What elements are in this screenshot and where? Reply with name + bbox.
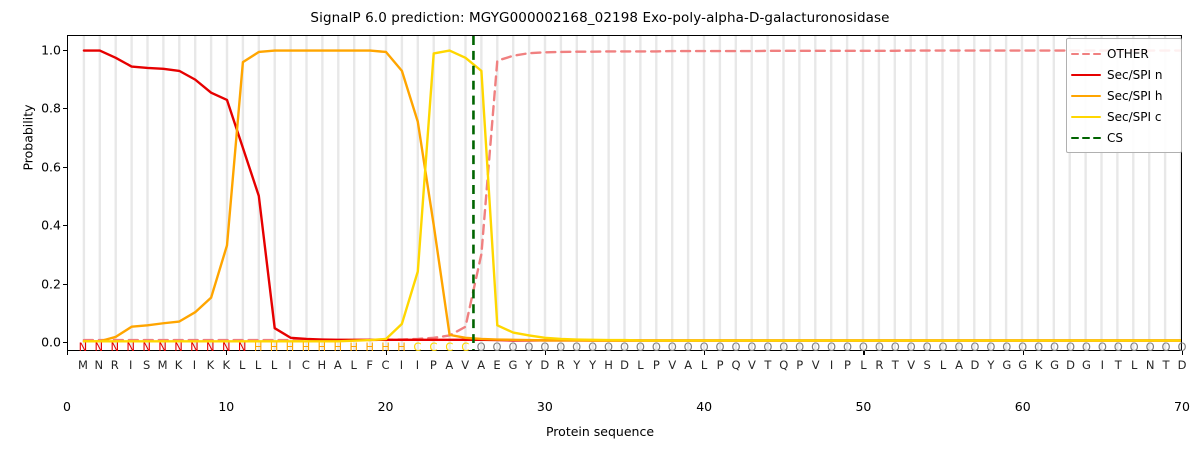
legend-item-sec-spi-n[interactable]: Sec/SPI n: [1071, 64, 1176, 85]
amino-acid-letter: I: [187, 358, 201, 373]
amino-acid-letter: R: [872, 358, 886, 373]
region-label: N: [187, 340, 201, 355]
region-label: C: [442, 340, 456, 355]
amino-acid-letter: Y: [522, 358, 536, 373]
amino-acid-letter: C: [299, 358, 313, 373]
region-label: O: [1159, 340, 1173, 355]
amino-acid-letter: H: [315, 358, 329, 373]
region-label: O: [490, 340, 504, 355]
region-label: H: [363, 340, 377, 355]
legend-swatch-icon: [1071, 90, 1101, 102]
region-label: O: [904, 340, 918, 355]
region-label: N: [140, 340, 154, 355]
amino-acid-letter: A: [442, 358, 456, 373]
amino-acid-letter: T: [761, 358, 775, 373]
amino-acid-letter: V: [904, 358, 918, 373]
region-label: N: [156, 340, 170, 355]
region-label: O: [474, 340, 488, 355]
region-label: H: [283, 340, 297, 355]
region-label: C: [410, 340, 424, 355]
series-line-other: [84, 51, 1181, 341]
region-label: N: [108, 340, 122, 355]
region-label: O: [1064, 340, 1078, 355]
amino-acid-letter: L: [856, 358, 870, 373]
amino-acid-letter: R: [108, 358, 122, 373]
amino-acid-letter: L: [1127, 358, 1141, 373]
region-label: O: [522, 340, 536, 355]
y-tick-label: 1.0: [21, 42, 61, 57]
amino-acid-letter: N: [92, 358, 106, 373]
region-label: O: [968, 340, 982, 355]
region-label: O: [793, 340, 807, 355]
amino-acid-letter: K: [1032, 358, 1046, 373]
x-tick-label: 10: [218, 399, 234, 414]
region-label: H: [315, 340, 329, 355]
amino-acid-letter: D: [538, 358, 552, 373]
amino-acid-letter: A: [952, 358, 966, 373]
region-label: O: [920, 340, 934, 355]
y-tick-label: 0.4: [21, 218, 61, 233]
region-label: O: [713, 340, 727, 355]
region-label: H: [347, 340, 361, 355]
region-annotation-row: NNNNNNNNNNNHHHHHHHHHHCCCCOOOOOOOOOOOOOOO…: [0, 340, 1200, 355]
x-tick-label: 60: [1015, 399, 1031, 414]
region-label: O: [649, 340, 663, 355]
series-line-sec-spi-c: [84, 51, 1181, 342]
x-tick-label: 20: [378, 399, 394, 414]
region-label: N: [203, 340, 217, 355]
legend-item-cs[interactable]: CS: [1071, 127, 1176, 148]
y-tick-mark: [63, 284, 67, 285]
legend-label: CS: [1107, 131, 1123, 145]
series-line-sec-spi-h: [84, 51, 1181, 342]
y-axis-label: Probability: [21, 78, 36, 198]
region-label: O: [952, 340, 966, 355]
x-tick-mark: [67, 351, 68, 355]
region-label: O: [1111, 340, 1125, 355]
y-tick-label: 0.0: [21, 335, 61, 350]
region-label: O: [729, 340, 743, 355]
x-tick-label: 50: [855, 399, 871, 414]
amino-acid-letter: M: [156, 358, 170, 373]
amino-acid-letter: R: [554, 358, 568, 373]
region-label: N: [124, 340, 138, 355]
legend-item-sec-spi-h[interactable]: Sec/SPI h: [1071, 85, 1176, 106]
region-label: O: [554, 340, 568, 355]
amino-acid-letter: H: [602, 358, 616, 373]
amino-acid-letter: Q: [777, 358, 791, 373]
x-tick-label: 40: [696, 399, 712, 414]
amino-acid-letter: A: [681, 358, 695, 373]
region-label: O: [618, 340, 632, 355]
region-label: O: [872, 340, 886, 355]
amino-acid-letter: T: [888, 358, 902, 373]
x-tick-label: 0: [63, 399, 71, 414]
amino-acid-letter: Y: [586, 358, 600, 373]
x-tick-label: 70: [1174, 399, 1190, 414]
x-axis-label: Protein sequence: [0, 424, 1200, 439]
region-label: O: [1079, 340, 1093, 355]
amino-acid-letter: D: [1175, 358, 1189, 373]
amino-acid-letter: L: [235, 358, 249, 373]
y-tick-mark: [63, 50, 67, 51]
amino-acid-letter: L: [633, 358, 647, 373]
amino-acid-letter: K: [172, 358, 186, 373]
amino-acid-letter: C: [379, 358, 393, 373]
amino-acid-letter: V: [809, 358, 823, 373]
region-label: O: [745, 340, 759, 355]
amino-acid-letter: I: [410, 358, 424, 373]
region-label: O: [936, 340, 950, 355]
amino-acid-letter: I: [124, 358, 138, 373]
amino-acid-letter: P: [426, 358, 440, 373]
legend-item-sec-spi-c[interactable]: Sec/SPI c: [1071, 106, 1176, 127]
region-label: O: [777, 340, 791, 355]
amino-acid-letter: S: [920, 358, 934, 373]
region-label: O: [506, 340, 520, 355]
region-label: O: [1127, 340, 1141, 355]
region-label: O: [602, 340, 616, 355]
region-label: O: [570, 340, 584, 355]
amino-acid-letter: P: [713, 358, 727, 373]
amino-acid-letter: A: [331, 358, 345, 373]
series-line-sec-spi-n: [84, 51, 1181, 341]
amino-acid-letter: G: [1016, 358, 1030, 373]
amino-acid-letter: F: [363, 358, 377, 373]
x-tick-label: 30: [537, 399, 553, 414]
region-label: O: [841, 340, 855, 355]
amino-acid-letter: I: [1095, 358, 1109, 373]
region-label: H: [267, 340, 281, 355]
amino-acid-letter: Y: [984, 358, 998, 373]
y-tick-mark: [63, 167, 67, 168]
region-label: O: [761, 340, 775, 355]
region-label: O: [1143, 340, 1157, 355]
region-label: H: [251, 340, 265, 355]
region-label: H: [395, 340, 409, 355]
y-tick-mark: [63, 342, 67, 343]
legend-label: Sec/SPI h: [1107, 89, 1162, 103]
amino-acid-letter: E: [490, 358, 504, 373]
amino-acid-letter: L: [697, 358, 711, 373]
x-tick-mark: [226, 351, 227, 355]
amino-acid-letter: Q: [729, 358, 743, 373]
y-tick-label: 0.6: [21, 159, 61, 174]
amino-acid-letter: D: [1064, 358, 1078, 373]
page-title: SignalP 6.0 prediction: MGYG000002168_02…: [0, 10, 1200, 26]
legend-label: Sec/SPI n: [1107, 68, 1162, 82]
legend-item-other[interactable]: OTHER: [1071, 43, 1176, 64]
region-label: C: [426, 340, 440, 355]
amino-acid-letter: L: [251, 358, 265, 373]
amino-acid-letter: T: [1159, 358, 1173, 373]
legend-swatch-icon: [1071, 111, 1101, 123]
amino-acid-letter: T: [1111, 358, 1125, 373]
y-tick-mark: [63, 225, 67, 226]
amino-acid-letter: I: [395, 358, 409, 373]
x-tick-mark: [545, 351, 546, 355]
x-tick-mark: [1182, 351, 1183, 355]
y-tick-mark: [63, 108, 67, 109]
amino-acid-letter: P: [649, 358, 663, 373]
legend-swatch-icon: [1071, 132, 1101, 144]
amino-acid-letter: P: [793, 358, 807, 373]
region-label: O: [984, 340, 998, 355]
legend-label: OTHER: [1107, 47, 1149, 61]
amino-acid-letter: G: [1048, 358, 1062, 373]
amino-acid-letter: P: [841, 358, 855, 373]
x-tick-mark: [1023, 351, 1024, 355]
region-label: O: [1032, 340, 1046, 355]
amino-acid-letter: I: [825, 358, 839, 373]
region-label: C: [458, 340, 472, 355]
x-tick-mark: [386, 351, 387, 355]
plot-canvas: [68, 36, 1181, 350]
amino-acid-letter: D: [968, 358, 982, 373]
amino-acid-letter: V: [458, 358, 472, 373]
y-tick-label: 0.8: [21, 101, 61, 116]
region-label: O: [1000, 340, 1014, 355]
region-label: O: [586, 340, 600, 355]
amino-acid-letter: A: [474, 358, 488, 373]
region-label: H: [331, 340, 345, 355]
amino-acid-letter: K: [203, 358, 217, 373]
amino-acid-letter: Y: [570, 358, 584, 373]
amino-acid-sequence-row: MNRISMKIKKLLLICHALFCIIPAVAEGYDRYYHDLPVAL…: [0, 358, 1200, 373]
region-label: N: [92, 340, 106, 355]
region-label: N: [235, 340, 249, 355]
region-label: O: [888, 340, 902, 355]
amino-acid-letter: I: [283, 358, 297, 373]
amino-acid-letter: D: [618, 358, 632, 373]
legend[interactable]: OTHERSec/SPI nSec/SPI hSec/SPI cCS: [1066, 38, 1182, 153]
plot-area: [67, 35, 1182, 351]
amino-acid-letter: M: [76, 358, 90, 373]
amino-acid-letter: L: [267, 358, 281, 373]
region-label: O: [633, 340, 647, 355]
region-label: O: [1048, 340, 1062, 355]
amino-acid-letter: L: [936, 358, 950, 373]
legend-label: Sec/SPI c: [1107, 110, 1161, 124]
amino-acid-letter: L: [347, 358, 361, 373]
region-label: O: [681, 340, 695, 355]
legend-swatch-icon: [1071, 69, 1101, 81]
amino-acid-letter: G: [1000, 358, 1014, 373]
region-label: N: [76, 340, 90, 355]
region-label: N: [172, 340, 186, 355]
region-label: H: [299, 340, 313, 355]
x-tick-mark: [704, 351, 705, 355]
region-label: O: [1095, 340, 1109, 355]
signalp-plot-figure: SignalP 6.0 prediction: MGYG000002168_02…: [0, 0, 1200, 450]
amino-acid-letter: K: [219, 358, 233, 373]
amino-acid-letter: V: [745, 358, 759, 373]
region-label: O: [665, 340, 679, 355]
amino-acid-letter: N: [1143, 358, 1157, 373]
amino-acid-letter: G: [1079, 358, 1093, 373]
x-tick-mark: [863, 351, 864, 355]
amino-acid-letter: G: [506, 358, 520, 373]
legend-swatch-icon: [1071, 48, 1101, 60]
y-tick-label: 0.2: [21, 276, 61, 291]
amino-acid-letter: V: [665, 358, 679, 373]
region-label: O: [809, 340, 823, 355]
region-label: O: [825, 340, 839, 355]
amino-acid-letter: S: [140, 358, 154, 373]
